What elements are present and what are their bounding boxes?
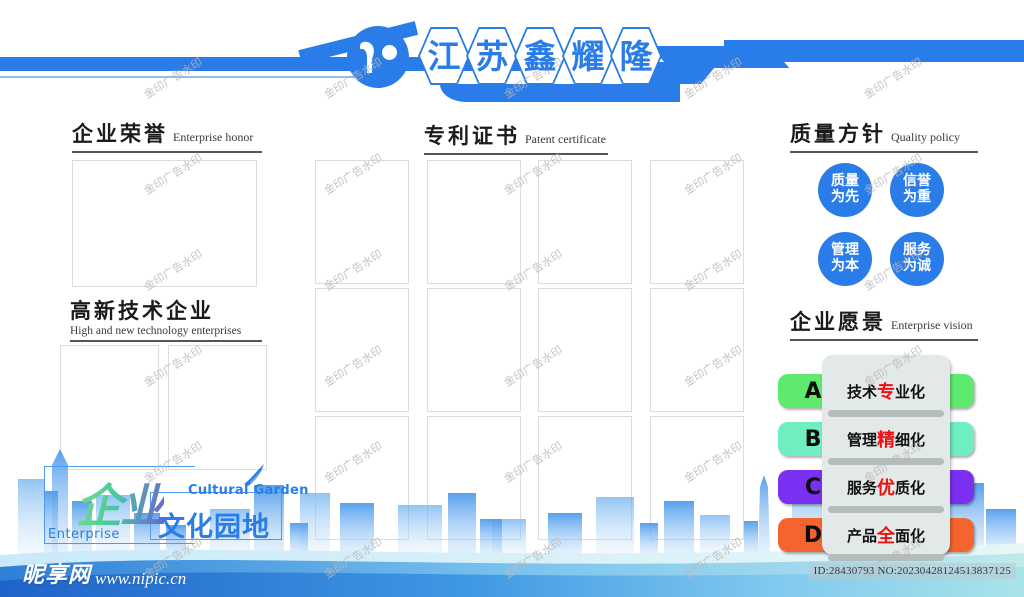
photo-frame-patent-r1c1[interactable]	[315, 160, 409, 284]
photo-frame-patent-r2c1[interactable]	[315, 288, 409, 412]
quality-circle-3: 管理 为本	[818, 232, 872, 286]
section-title-cn-vision: 企业愿景	[790, 310, 886, 334]
photo-frame-patent-r2c4[interactable]	[650, 288, 744, 412]
section-title-cn-high-tech: 高新技术企业	[70, 295, 262, 325]
section-title-en-vision: Enterprise vision	[891, 318, 973, 332]
title-char-2-text: 苏	[476, 40, 509, 73]
quality-circle-1: 质量 为先	[818, 163, 872, 217]
section-rule-quality	[790, 151, 978, 153]
quality-circle-4-line2: 为诚	[903, 259, 931, 275]
section-heading-high-tech: 高新技术企业 High and new technology enterpris…	[70, 295, 262, 342]
site-watermark-cn: 昵享网	[22, 557, 91, 589]
poster-canvas: 江 苏 鑫 耀 隆 企业荣誉Enterprise honor 高新技术企业 Hi…	[0, 0, 1024, 597]
branding-cultural-garden-cn: 文化园地	[158, 505, 270, 544]
vision-text-d-highlight: 全	[877, 522, 895, 548]
title-char-1: 江	[418, 27, 470, 85]
section-heading-enterprise-vision: 企业愿景Enterprise vision	[790, 306, 978, 341]
section-title-cn-enterprise-honor: 企业荣誉	[72, 122, 168, 146]
enterprise-vision-list: A B C D 技术 专 业化 管理 精 细化 服务 优 质化 产品 全 面化	[778, 360, 993, 552]
logo-swoosh-icon	[359, 40, 381, 74]
image-id-tag: ID:28430793 NO:20230428124513837125	[809, 563, 1016, 579]
section-rule-high-tech	[70, 340, 262, 342]
vision-separator-1	[828, 410, 944, 417]
quality-circle-1-line1: 质量	[831, 174, 859, 190]
photo-frame-patent-r1c2[interactable]	[427, 160, 521, 284]
quality-circle-3-line2: 为本	[831, 259, 859, 275]
vision-text-c-highlight: 优	[877, 474, 895, 500]
section-title-en-patent: Patent certificate	[525, 132, 606, 146]
photo-frame-patent-r2c2[interactable]	[427, 288, 521, 412]
vision-separator-4	[828, 554, 944, 561]
vision-text-d-post: 面化	[895, 525, 925, 546]
section-title-en-high-tech: High and new technology enterprises	[70, 325, 262, 337]
title-char-4: 耀	[562, 27, 614, 85]
section-rule-patent	[424, 153, 608, 155]
site-watermark: 昵享网 www.nipic.cn	[22, 557, 186, 589]
title-char-3: 鑫	[514, 27, 566, 85]
poster-title: 江 苏 鑫 耀 隆	[418, 27, 658, 85]
vision-separator-3	[828, 506, 944, 513]
photo-frame-patent-r1c4[interactable]	[650, 160, 744, 284]
vision-separator-2	[828, 458, 944, 465]
company-logo-icon	[347, 26, 409, 88]
title-char-5: 隆	[610, 27, 662, 85]
vision-text-a: 技术 专 业化	[822, 374, 950, 408]
logo-dot-icon	[382, 45, 397, 60]
vision-text-c: 服务 优 质化	[822, 470, 950, 504]
photo-frame-honor-1[interactable]	[72, 160, 257, 287]
photo-frame-patent-r1c3[interactable]	[538, 160, 632, 284]
vision-text-d: 产品 全 面化	[822, 518, 950, 552]
vision-text-b: 管理 精 细化	[822, 422, 950, 456]
title-char-1-text: 江	[428, 40, 461, 73]
vision-text-b-post: 细化	[895, 429, 925, 450]
section-title-en-quality: Quality policy	[891, 130, 960, 144]
quality-circle-4: 服务 为诚	[890, 232, 944, 286]
header-hairline-left	[0, 76, 360, 78]
title-char-3-text: 鑫	[524, 40, 557, 73]
vision-text-b-pre: 管理	[847, 429, 877, 450]
branding-enterprise-en: Enterprise	[48, 527, 120, 542]
vision-text-a-pre: 技术	[847, 381, 877, 402]
vision-text-a-post: 业化	[895, 381, 925, 402]
quality-circle-2: 信誉 为重	[890, 163, 944, 217]
header-ribbon-lower	[440, 84, 680, 102]
bird-icon	[242, 462, 268, 488]
section-title-cn-quality: 质量方针	[790, 122, 886, 146]
photo-frame-patent-r2c3[interactable]	[538, 288, 632, 412]
quality-circle-2-line1: 信誉	[903, 174, 931, 190]
quality-circle-4-line1: 服务	[903, 243, 931, 259]
site-watermark-url: www.nipic.cn	[95, 569, 186, 589]
quality-circle-2-line2: 为重	[903, 190, 931, 206]
vision-text-c-pre: 服务	[847, 477, 877, 498]
vision-text-d-pre: 产品	[847, 525, 877, 546]
section-heading-enterprise-honor: 企业荣誉Enterprise honor	[72, 118, 262, 153]
section-heading-patent-certificate: 专利证书Patent certificate	[424, 120, 608, 155]
quality-circle-3-line1: 管理	[831, 243, 859, 259]
title-char-2: 苏	[466, 27, 518, 85]
vision-text-c-post: 质化	[895, 477, 925, 498]
quality-circle-1-line2: 为先	[831, 190, 859, 206]
section-title-cn-patent: 专利证书	[424, 124, 520, 148]
vision-text-a-highlight: 专	[877, 378, 895, 404]
section-rule-vision	[790, 339, 978, 341]
section-title-en-enterprise-honor: Enterprise honor	[173, 130, 253, 144]
section-rule-enterprise-honor	[72, 151, 262, 153]
section-heading-quality-policy: 质量方针Quality policy	[790, 118, 978, 153]
title-char-5-text: 隆	[620, 40, 653, 73]
vision-text-b-highlight: 精	[877, 426, 895, 452]
title-char-4-text: 耀	[572, 40, 605, 73]
